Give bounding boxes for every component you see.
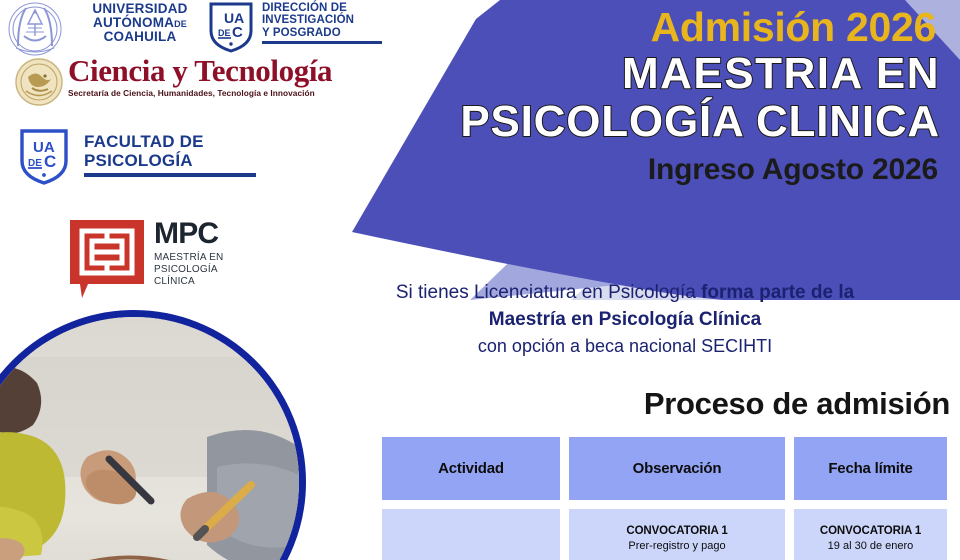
svg-text:DE: DE: [218, 28, 231, 38]
mpc-sub-line-1: MAESTRÍA EN: [154, 252, 223, 264]
table-row: CONVOCATORIA 1 Prer-registro y pago CONV…: [382, 509, 952, 560]
poster-headline: Admisión 2026 MAESTRIA EN PSICOLOGÍA CLI…: [330, 6, 950, 187]
mpc-wordmark: MPC MAESTRÍA EN PSICOLOGÍA CLÍNICA: [154, 220, 223, 288]
table-header-fecha-limite: Fecha límite: [794, 437, 947, 500]
observacion-detail: Prer-registro y pago: [626, 540, 727, 554]
mpc-maze-speech-bubble-icon: [70, 220, 148, 302]
table-cell-fecha-limite: CONVOCATORIA 1 19 al 30 de enero: [794, 509, 947, 560]
uadec-line-1: UNIVERSIDAD: [70, 2, 210, 16]
ciencia-subtitle: Secretaría de Ciencia, Humanidades, Tecn…: [68, 88, 332, 98]
description-block: Si tienes Licenciatura en Psicología for…: [300, 280, 950, 359]
svg-text:C: C: [232, 24, 243, 41]
uadec-line-2: AUTÓNOMADE: [70, 16, 210, 30]
admission-process-table: Actividad Observación Fecha límite CONVO…: [382, 437, 952, 560]
description-line-3: con opción a beca nacional SECIHTI: [300, 334, 950, 360]
uadec-wordmark: UNIVERSIDAD AUTÓNOMADE COAHUILA: [70, 2, 210, 44]
ciencia-tecnologia-wordmark: Ciencia y Tecnología Secretaría de Cienc…: [68, 55, 332, 98]
uadec-shield-icon: UA DE C: [205, 1, 257, 53]
ingreso-subtitle: Ingreso Agosto 2026: [330, 153, 950, 187]
psicologia-clinica-title: PSICOLOGÍA CLINICA: [330, 99, 950, 146]
mpc-logo: MPC MAESTRÍA EN PSICOLOGÍA CLÍNICA: [70, 220, 250, 305]
table-cell-observacion: CONVOCATORIA 1 Prer-registro y pago: [569, 509, 785, 560]
uadec-seal-icon: [4, 2, 66, 58]
description-line-1-normal: Si tienes Licenciatura en Psicología: [396, 282, 701, 303]
table-header-observacion: Observación: [569, 437, 785, 500]
table-cell-actividad: [382, 509, 560, 560]
mpc-abbreviation: MPC: [154, 220, 223, 249]
maestria-title: MAESTRIA EN: [330, 51, 950, 98]
facultad-underline-rule: [84, 173, 256, 177]
svg-text:C: C: [44, 152, 56, 171]
observacion-convocatoria-label: CONVOCATORIA 1: [626, 524, 727, 538]
students-photo-circle: [0, 310, 306, 560]
proceso-admision-heading: Proceso de admisión: [300, 386, 958, 422]
mpc-subtitle: MAESTRÍA EN PSICOLOGÍA CLÍNICA: [154, 252, 223, 289]
table-header-row: Actividad Observación Fecha límite: [382, 437, 952, 500]
poster-canvas: UNIVERSIDAD AUTÓNOMADE COAHUILA UA DE C …: [0, 0, 960, 560]
facultad-psicologia-logo: UA DE C FACULTAD DE PSICOLOGÍA: [14, 128, 264, 190]
table-header-actividad: Actividad: [382, 437, 560, 500]
admision-title: Admisión 2026: [330, 6, 950, 49]
ciencia-title: Ciencia y Tecnología: [68, 55, 332, 86]
description-line-2-bold: Maestría en Psicología Clínica: [489, 309, 761, 330]
mpc-sub-line-3: CLÍNICA: [154, 276, 223, 288]
description-line-2: Maestría en Psicología Clínica: [300, 307, 950, 334]
description-line-1: Si tienes Licenciatura en Psicología for…: [300, 280, 950, 307]
uadec-shield-icon: UA DE C: [16, 128, 72, 186]
facultad-wordmark: FACULTAD DE PSICOLOGÍA: [84, 132, 256, 177]
mpc-sub-line-2: PSICOLOGÍA: [154, 264, 223, 276]
facultad-line-1: FACULTAD DE: [84, 132, 256, 151]
fecha-detail: 19 al 30 de enero: [820, 540, 921, 554]
facultad-line-2: PSICOLOGÍA: [84, 151, 256, 170]
uadec-line-3: COAHUILA: [70, 30, 210, 44]
fecha-convocatoria-label: CONVOCATORIA 1: [820, 524, 921, 538]
mexico-eagle-seal-icon: [12, 57, 66, 107]
students-studying-photo: [0, 317, 299, 560]
description-line-1-bold: forma parte de la: [701, 282, 854, 303]
